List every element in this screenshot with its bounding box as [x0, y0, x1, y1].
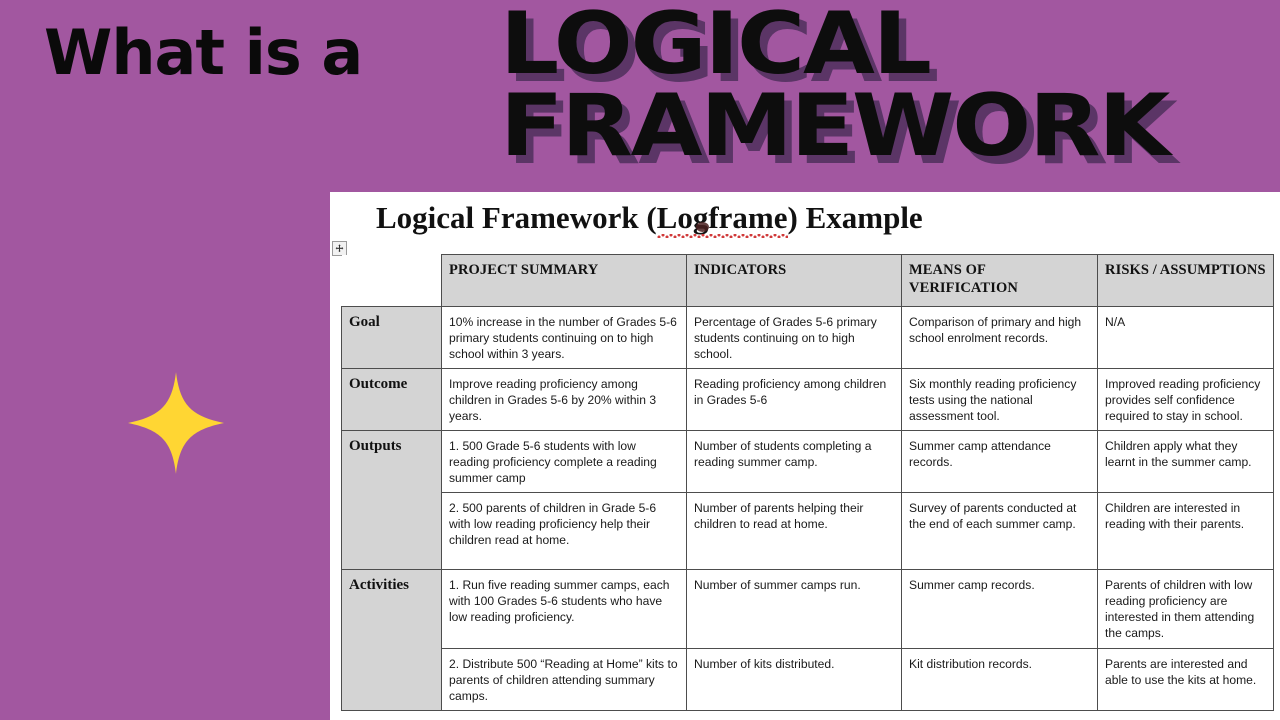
cell-goal-verification: Comparison of primary and high school en… [902, 307, 1098, 369]
column-header-indicators: INDICATORS [687, 255, 902, 307]
cell-activity1-verification: Summer camp records. [902, 570, 1098, 649]
row-label-outputs: Outputs [342, 431, 442, 570]
logframe-table: PROJECT SUMMARY INDICATORS MEANS OF VERI… [341, 254, 1274, 711]
table-corner-cell [342, 255, 442, 307]
misspelled-word-logframe: Logframe [657, 200, 788, 236]
cell-activity2-indicators: Number of kits distributed. [687, 649, 902, 711]
table-row: 2. 500 parents of children in Grade 5-6 … [342, 493, 1274, 570]
table-row: Outcome Improve reading proficiency amon… [342, 369, 1274, 431]
document-title-prefix: Logical Framework ( [376, 200, 657, 235]
cell-output1-verification: Summer camp attendance records. [902, 431, 1098, 493]
cell-goal-risks: N/A [1098, 307, 1274, 369]
column-header-means-of-verification: MEANS OF VERIFICATION [902, 255, 1098, 307]
table-row: Outputs 1. 500 Grade 5-6 students with l… [342, 431, 1274, 493]
cell-output2-verification: Survey of parents conducted at the end o… [902, 493, 1098, 570]
document-title-suffix: ) Example [788, 200, 923, 235]
row-label-outcome: Outcome [342, 369, 442, 431]
comment-anchor-marker [696, 222, 709, 232]
table-row: Activities 1. Run five reading summer ca… [342, 570, 1274, 649]
cell-output1-summary: 1. 500 Grade 5-6 students with low readi… [442, 431, 687, 493]
cell-outcome-indicators: Reading proficiency among children in Gr… [687, 369, 902, 431]
cell-output2-risks: Children are interested in reading with … [1098, 493, 1274, 570]
cell-activity2-risks: Parents are interested and able to use t… [1098, 649, 1274, 711]
headline-big-text: LOGICAL FRAMEWORK [500, 4, 1280, 167]
cell-activity2-summary: 2. Distribute 500 “Reading at Home” kits… [442, 649, 687, 711]
table-row: Goal 10% increase in the number of Grade… [342, 307, 1274, 369]
cell-goal-indicators: Percentage of Grades 5-6 primary student… [687, 307, 902, 369]
column-header-project-summary: PROJECT SUMMARY [442, 255, 687, 307]
cell-output2-indicators: Number of parents helping their children… [687, 493, 902, 570]
column-header-risks-assumptions: RISKS / ASSUMPTIONS [1098, 255, 1274, 307]
headline-small-text: What is a [44, 22, 362, 84]
table-row: 2. Distribute 500 “Reading at Home” kits… [342, 649, 1274, 711]
cell-activity1-indicators: Number of summer camps run. [687, 570, 902, 649]
cell-output1-risks: Children apply what they learnt in the s… [1098, 431, 1274, 493]
row-label-activities: Activities [342, 570, 442, 711]
cell-activity2-verification: Kit distribution records. [902, 649, 1098, 711]
row-label-goal: Goal [342, 307, 442, 369]
cell-outcome-risks: Improved reading proficiency provides se… [1098, 369, 1274, 431]
cell-outcome-summary: Improve reading proficiency among childr… [442, 369, 687, 431]
cell-goal-summary: 10% increase in the number of Grades 5-6… [442, 307, 687, 369]
thumbnail-canvas: What is a LOGICAL FRAMEWORK Logical Fram… [0, 0, 1280, 720]
document-title: Logical Framework (Logframe) Example [376, 200, 923, 236]
table-header-row: PROJECT SUMMARY INDICATORS MEANS OF VERI… [342, 255, 1274, 307]
word-document-page: Logical Framework (Logframe) Example PRO… [330, 192, 1280, 720]
cell-outcome-verification: Six monthly reading proficiency tests us… [902, 369, 1098, 431]
cell-activity1-summary: 1. Run five reading summer camps, each w… [442, 570, 687, 649]
cell-activity1-risks: Parents of children with low reading pro… [1098, 570, 1274, 649]
cell-output1-indicators: Number of students completing a reading … [687, 431, 902, 493]
sparkle-icon [128, 372, 224, 474]
cell-output2-summary: 2. 500 parents of children in Grade 5-6 … [442, 493, 687, 570]
